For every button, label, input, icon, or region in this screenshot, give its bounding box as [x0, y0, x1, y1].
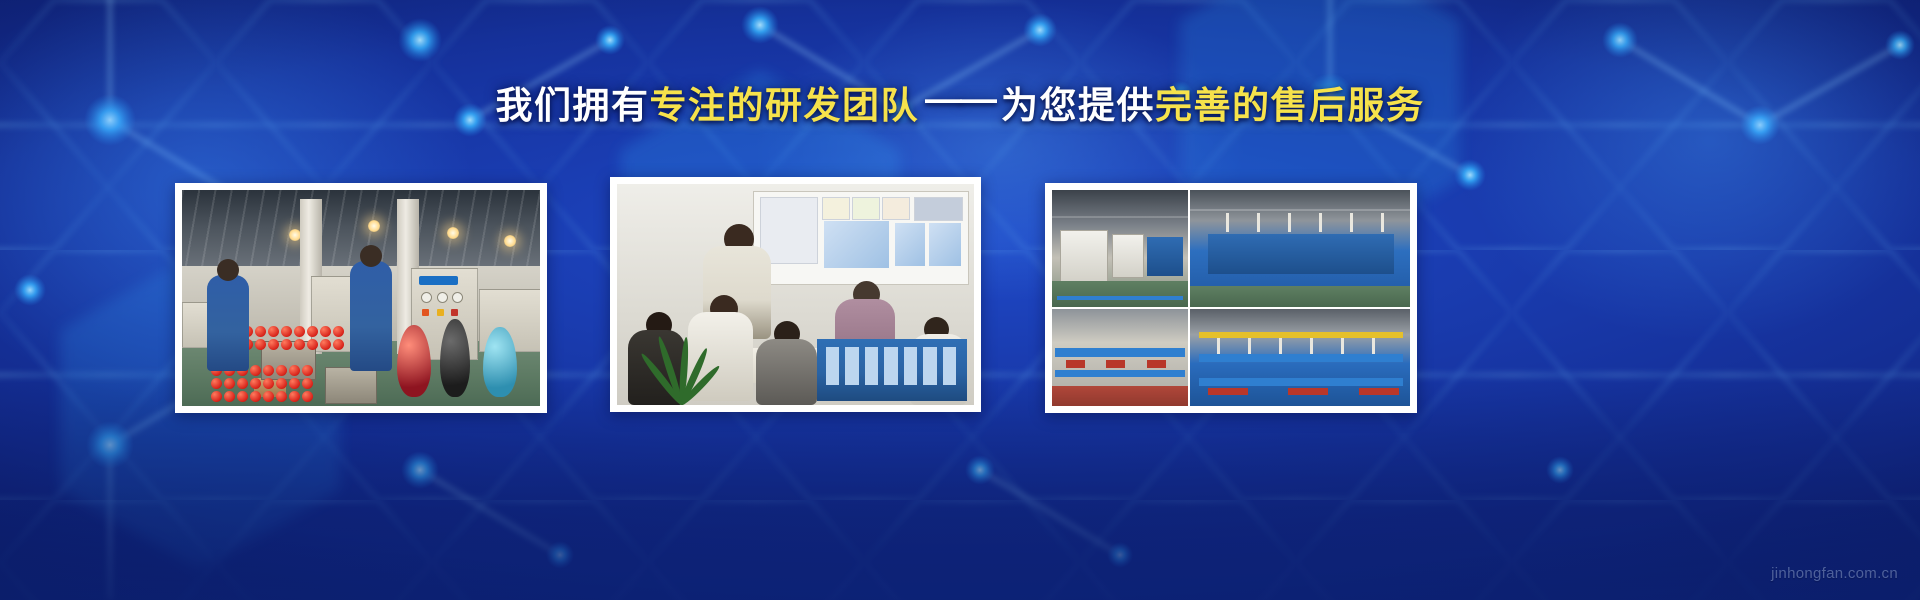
headline-segment-1: 我们拥有	[496, 85, 650, 126]
collage-cell-bottom-right	[1190, 309, 1410, 406]
plant-equipment-collage[interactable]	[1045, 183, 1417, 413]
headline-segment-2: 专注的研发团队	[650, 85, 920, 126]
banner-headline: 我们拥有专注的研发团队——为您提供完善的售后服务	[0, 82, 1920, 130]
plant-equipment-collage-image	[1052, 190, 1410, 406]
customer-meeting-photo[interactable]	[610, 177, 981, 412]
headline-segment-4: 为您提供	[1001, 85, 1155, 126]
collage-cell-top-right	[1190, 190, 1410, 307]
production-line-photo[interactable]	[175, 183, 547, 413]
collage-cell-bottom-left	[1052, 309, 1188, 406]
collage-cell-top-left	[1052, 190, 1188, 307]
customer-meeting-photo-image	[617, 184, 974, 405]
headline-segment-5: 完善的售后服务	[1155, 85, 1425, 126]
hero-banner: 我们拥有专注的研发团队——为您提供完善的售后服务	[0, 0, 1920, 600]
production-line-photo-image	[182, 190, 540, 406]
site-watermark: jinhongfan.com.cn	[1771, 565, 1898, 582]
headline-dash: ——	[919, 75, 1001, 123]
